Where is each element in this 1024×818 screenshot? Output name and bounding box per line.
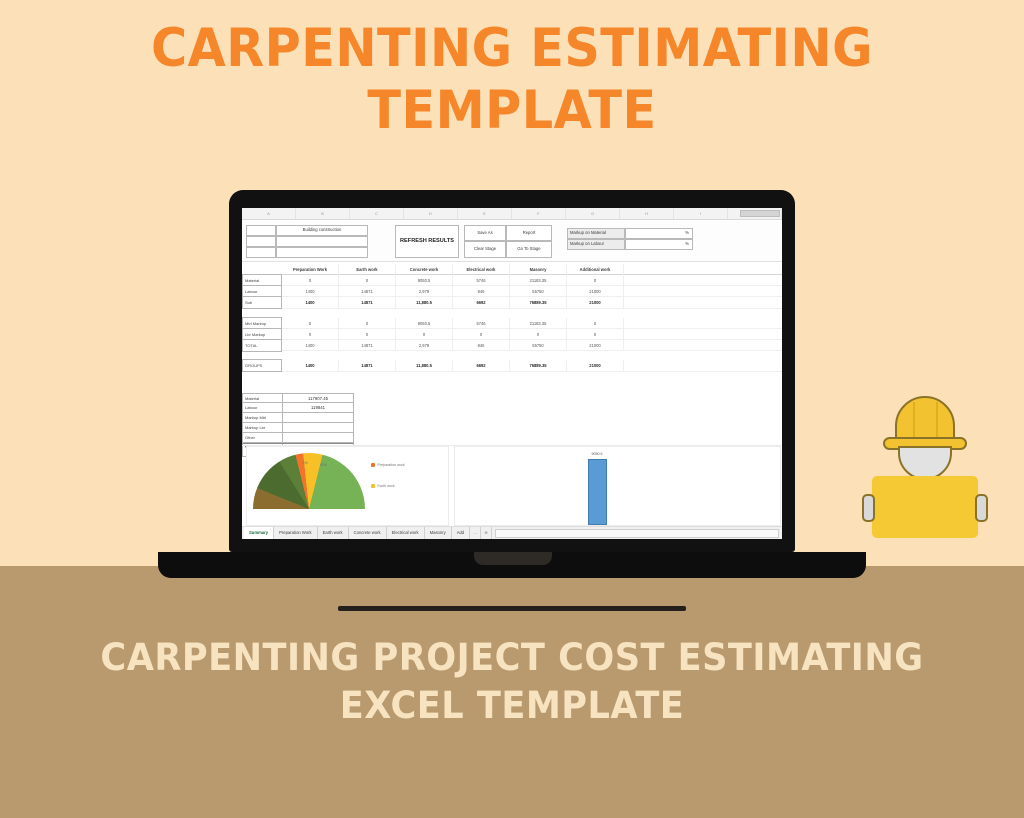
data-grid: Preparation WorkEarth workConcrete workE…	[242, 264, 782, 372]
table-column-header: Masonry	[510, 264, 567, 275]
totals-row[interactable]: Markup Lbr	[242, 423, 354, 433]
table-cell[interactable]: 0	[567, 318, 624, 329]
table-column-header: Additional work	[567, 264, 624, 275]
worker-face-icon	[898, 446, 952, 480]
totals-value: 117907.45	[283, 394, 353, 402]
totals-label: Markup Mtrl	[243, 413, 283, 422]
totals-row[interactable]: Other	[242, 433, 354, 443]
legend-label: Preparation work	[378, 463, 405, 467]
hard-hat-rib-icon	[913, 402, 915, 438]
page-caption-line2: EXCEL TEMPLATE	[26, 682, 999, 730]
refresh-results-button[interactable]: REFRESH RESULTS	[395, 225, 459, 258]
sheet-tab-concrete-work[interactable]: Concrete work	[349, 527, 387, 539]
hard-hat-rib-icon	[936, 402, 938, 438]
row-label: Sub	[242, 296, 282, 309]
table-cell[interactable]: 76889.35	[510, 297, 567, 308]
table-cell[interactable]: 1400	[282, 360, 339, 371]
legend-item: Earth work	[371, 484, 405, 488]
table-column-header: Preparation Work	[282, 264, 339, 275]
table-cell[interactable]: 1400	[282, 286, 339, 297]
table-cell[interactable]: 21000	[567, 286, 624, 297]
project-field-2[interactable]	[276, 236, 368, 247]
totals-value	[283, 413, 353, 422]
markup-material-input[interactable]: %	[625, 228, 693, 239]
markup-material-label: Markup on Material	[567, 228, 625, 239]
totals-label: Markup Lbr	[243, 423, 283, 432]
column-header-row: ABCDEFGHIJ	[242, 208, 782, 220]
sheet-tab-electrical-work[interactable]: Electrical work	[387, 527, 425, 539]
horizontal-scrollbar[interactable]	[740, 210, 780, 217]
table-column-header: Electrical work	[453, 264, 510, 275]
table-cell[interactable]: 21000	[567, 340, 624, 351]
table-cell[interactable]: 0	[567, 329, 624, 340]
column-header-c[interactable]: C	[350, 208, 404, 219]
control-band: Building construction REFRESH RESULTS Sa…	[242, 221, 782, 262]
table-cell[interactable]: 6692	[453, 297, 510, 308]
table-cell[interactable]: 0	[282, 275, 339, 286]
pie-label-1: 1%	[303, 461, 308, 465]
row-label: TOTAL	[242, 339, 282, 352]
table-header-row: Preparation WorkEarth workConcrete workE…	[242, 264, 782, 275]
column-header-f[interactable]: F	[512, 208, 566, 219]
table-cell[interactable]: 9050.5	[396, 318, 453, 329]
table-cell[interactable]: 2,979	[396, 286, 453, 297]
pie-label-2: 11%	[320, 463, 327, 467]
sheet-tab-preparation-work[interactable]: Preparation Work	[274, 527, 318, 539]
markup-labour-input[interactable]: %	[625, 239, 693, 250]
table-cell[interactable]: 6692	[453, 360, 510, 371]
table-cell[interactable]: 21183.35	[510, 275, 567, 286]
column-header-h[interactable]: H	[620, 208, 674, 219]
table-cell[interactable]: 55750	[510, 286, 567, 297]
page-caption-line1: CARPENTING PROJECT COST ESTIMATING	[100, 636, 923, 679]
add-sheet-icon[interactable]: ⊕	[481, 527, 492, 539]
table-cell[interactable]: 1400	[282, 340, 339, 351]
table-row[interactable]: Lbr Markup000000	[242, 329, 782, 340]
bar-series-1	[588, 459, 607, 525]
bar-data-label: 9050.5	[577, 452, 617, 456]
sheet-tab-overflow-icon[interactable]: …	[470, 527, 481, 539]
column-header-b[interactable]: B	[296, 208, 350, 219]
report-button[interactable]: Report	[506, 225, 552, 241]
table-row[interactable]: Labour1400148712,9799465575021000	[242, 286, 782, 297]
table-cell[interactable]: 0	[453, 329, 510, 340]
sheet-tab-add[interactable]: Add	[452, 527, 470, 539]
table-cell[interactable]: 11,880.5	[396, 360, 453, 371]
save-as-button[interactable]: Save As	[464, 225, 506, 241]
totals-label: Other	[243, 433, 283, 442]
table-cell[interactable]: 9050.5	[396, 275, 453, 286]
laptop-screen-bezel: ABCDEFGHIJ Building construction REFRESH…	[229, 190, 795, 552]
table-cell[interactable]: 946	[453, 340, 510, 351]
row-label: GROUPS	[242, 359, 282, 372]
chart-area: 1% 11% Preparation work Earth work	[242, 445, 782, 525]
blank-cell-2[interactable]	[246, 236, 276, 247]
totals-row[interactable]: Markup Mtrl	[242, 413, 354, 423]
table-cell[interactable]: 14871	[339, 340, 396, 351]
bar-chart: 9050.5	[455, 447, 780, 525]
table-cell[interactable]: 0	[510, 329, 567, 340]
blank-cell-1[interactable]	[246, 225, 276, 236]
page-caption: CARPENTING PROJECT COST ESTIMATING EXCEL…	[26, 634, 999, 730]
table-row[interactable]: Mtrl Markup009050.5574621183.350	[242, 318, 782, 329]
laptop-screen: ABCDEFGHIJ Building construction REFRESH…	[242, 208, 782, 539]
table-cell[interactable]: 0	[339, 318, 396, 329]
table-cell[interactable]: 14871	[339, 286, 396, 297]
table-cell[interactable]: 0	[339, 329, 396, 340]
table-cell[interactable]: 55750	[510, 340, 567, 351]
laptop-shadow-line	[338, 606, 686, 611]
pie-chart	[253, 453, 365, 521]
status-bar-field[interactable]	[495, 529, 779, 538]
totals-value: 119841	[283, 403, 353, 412]
table-cell[interactable]: 21000	[567, 297, 624, 308]
totals-label: Material	[243, 394, 283, 402]
table-cell[interactable]: 14871	[339, 360, 396, 371]
table-cell[interactable]: 0	[282, 329, 339, 340]
table-cell[interactable]: 0	[339, 275, 396, 286]
column-header-d[interactable]: D	[404, 208, 458, 219]
construction-worker-icon	[862, 396, 988, 538]
table-cell[interactable]: 2,979	[396, 340, 453, 351]
table-cell[interactable]: 0	[396, 329, 453, 340]
table-column-header: Earth work	[339, 264, 396, 275]
worker-hand-right-icon	[975, 494, 988, 522]
sheet-tab-masonry[interactable]: Masonry	[425, 527, 452, 539]
laptop-base-notch	[474, 552, 552, 565]
project-field-3[interactable]	[276, 247, 368, 258]
table-cell[interactable]: 0	[282, 318, 339, 329]
go-to-stage-button[interactable]: Go To Stage	[506, 241, 552, 258]
table-cell[interactable]: 5746	[453, 275, 510, 286]
table-cell[interactable]: 5746	[453, 318, 510, 329]
legend-swatch-icon	[371, 463, 375, 467]
table-cell[interactable]: 21183.35	[510, 318, 567, 329]
grid-spacer	[242, 351, 782, 360]
totals-row[interactable]: Labour119841	[242, 403, 354, 413]
table-row[interactable]: Material009050.5574621183.350	[242, 275, 782, 286]
table-cell[interactable]: 946	[453, 286, 510, 297]
column-header-i[interactable]: I	[674, 208, 728, 219]
sheet-tab-earth-work[interactable]: Earth work	[318, 527, 349, 539]
table-cell[interactable]: 0	[567, 275, 624, 286]
pie-chart-slices	[253, 453, 365, 521]
table-cell[interactable]: 76889.35	[510, 360, 567, 371]
pie-chart-legend: Preparation work Earth work	[371, 463, 405, 505]
column-header-a[interactable]: A	[242, 208, 296, 219]
table-cell[interactable]: 14871	[339, 297, 396, 308]
table-column-header: Concrete work	[396, 264, 453, 275]
excel-spreadsheet: ABCDEFGHIJ Building construction REFRESH…	[242, 208, 782, 539]
sheet-tab-bar: SummaryPreparation WorkEarth workConcret…	[242, 526, 782, 539]
table-cell[interactable]: 1400	[282, 297, 339, 308]
worker-hand-left-icon	[862, 494, 875, 522]
column-header-e[interactable]: E	[458, 208, 512, 219]
totals-row[interactable]: Material117907.45	[242, 393, 354, 403]
table-cell[interactable]: 11,880.5	[396, 297, 453, 308]
sheet-tab-summary[interactable]: Summary	[244, 527, 274, 540]
project-name-field[interactable]: Building construction	[276, 225, 368, 236]
column-header-g[interactable]: G	[566, 208, 620, 219]
totals-label: Labour	[243, 403, 283, 412]
blueprint-sheet-icon	[872, 476, 978, 538]
legend-item: Preparation work	[371, 463, 405, 467]
blank-cell-3[interactable]	[246, 247, 276, 258]
pie-chart-card[interactable]: 1% 11% Preparation work Earth work	[246, 446, 449, 526]
legend-swatch-icon	[371, 484, 375, 488]
bar-chart-card[interactable]: 9050.5	[454, 446, 781, 526]
table-cell[interactable]: 21000	[567, 360, 624, 371]
table-row[interactable]: TOTAL1400148712,9799465575021000	[242, 340, 782, 351]
markup-labour-label: Markup on Labour	[567, 239, 625, 250]
totals-value	[283, 423, 353, 432]
legend-label: Earth work	[378, 484, 395, 488]
hard-hat-dome-icon	[895, 396, 955, 440]
table-row[interactable]: GROUPS14001487111,880.5669276889.3521000	[242, 360, 782, 372]
clear-stage-button[interactable]: Clear Stage	[464, 241, 506, 258]
totals-value	[283, 433, 353, 442]
table-row[interactable]: Sub14001487111,880.5669276889.3521000	[242, 297, 782, 309]
